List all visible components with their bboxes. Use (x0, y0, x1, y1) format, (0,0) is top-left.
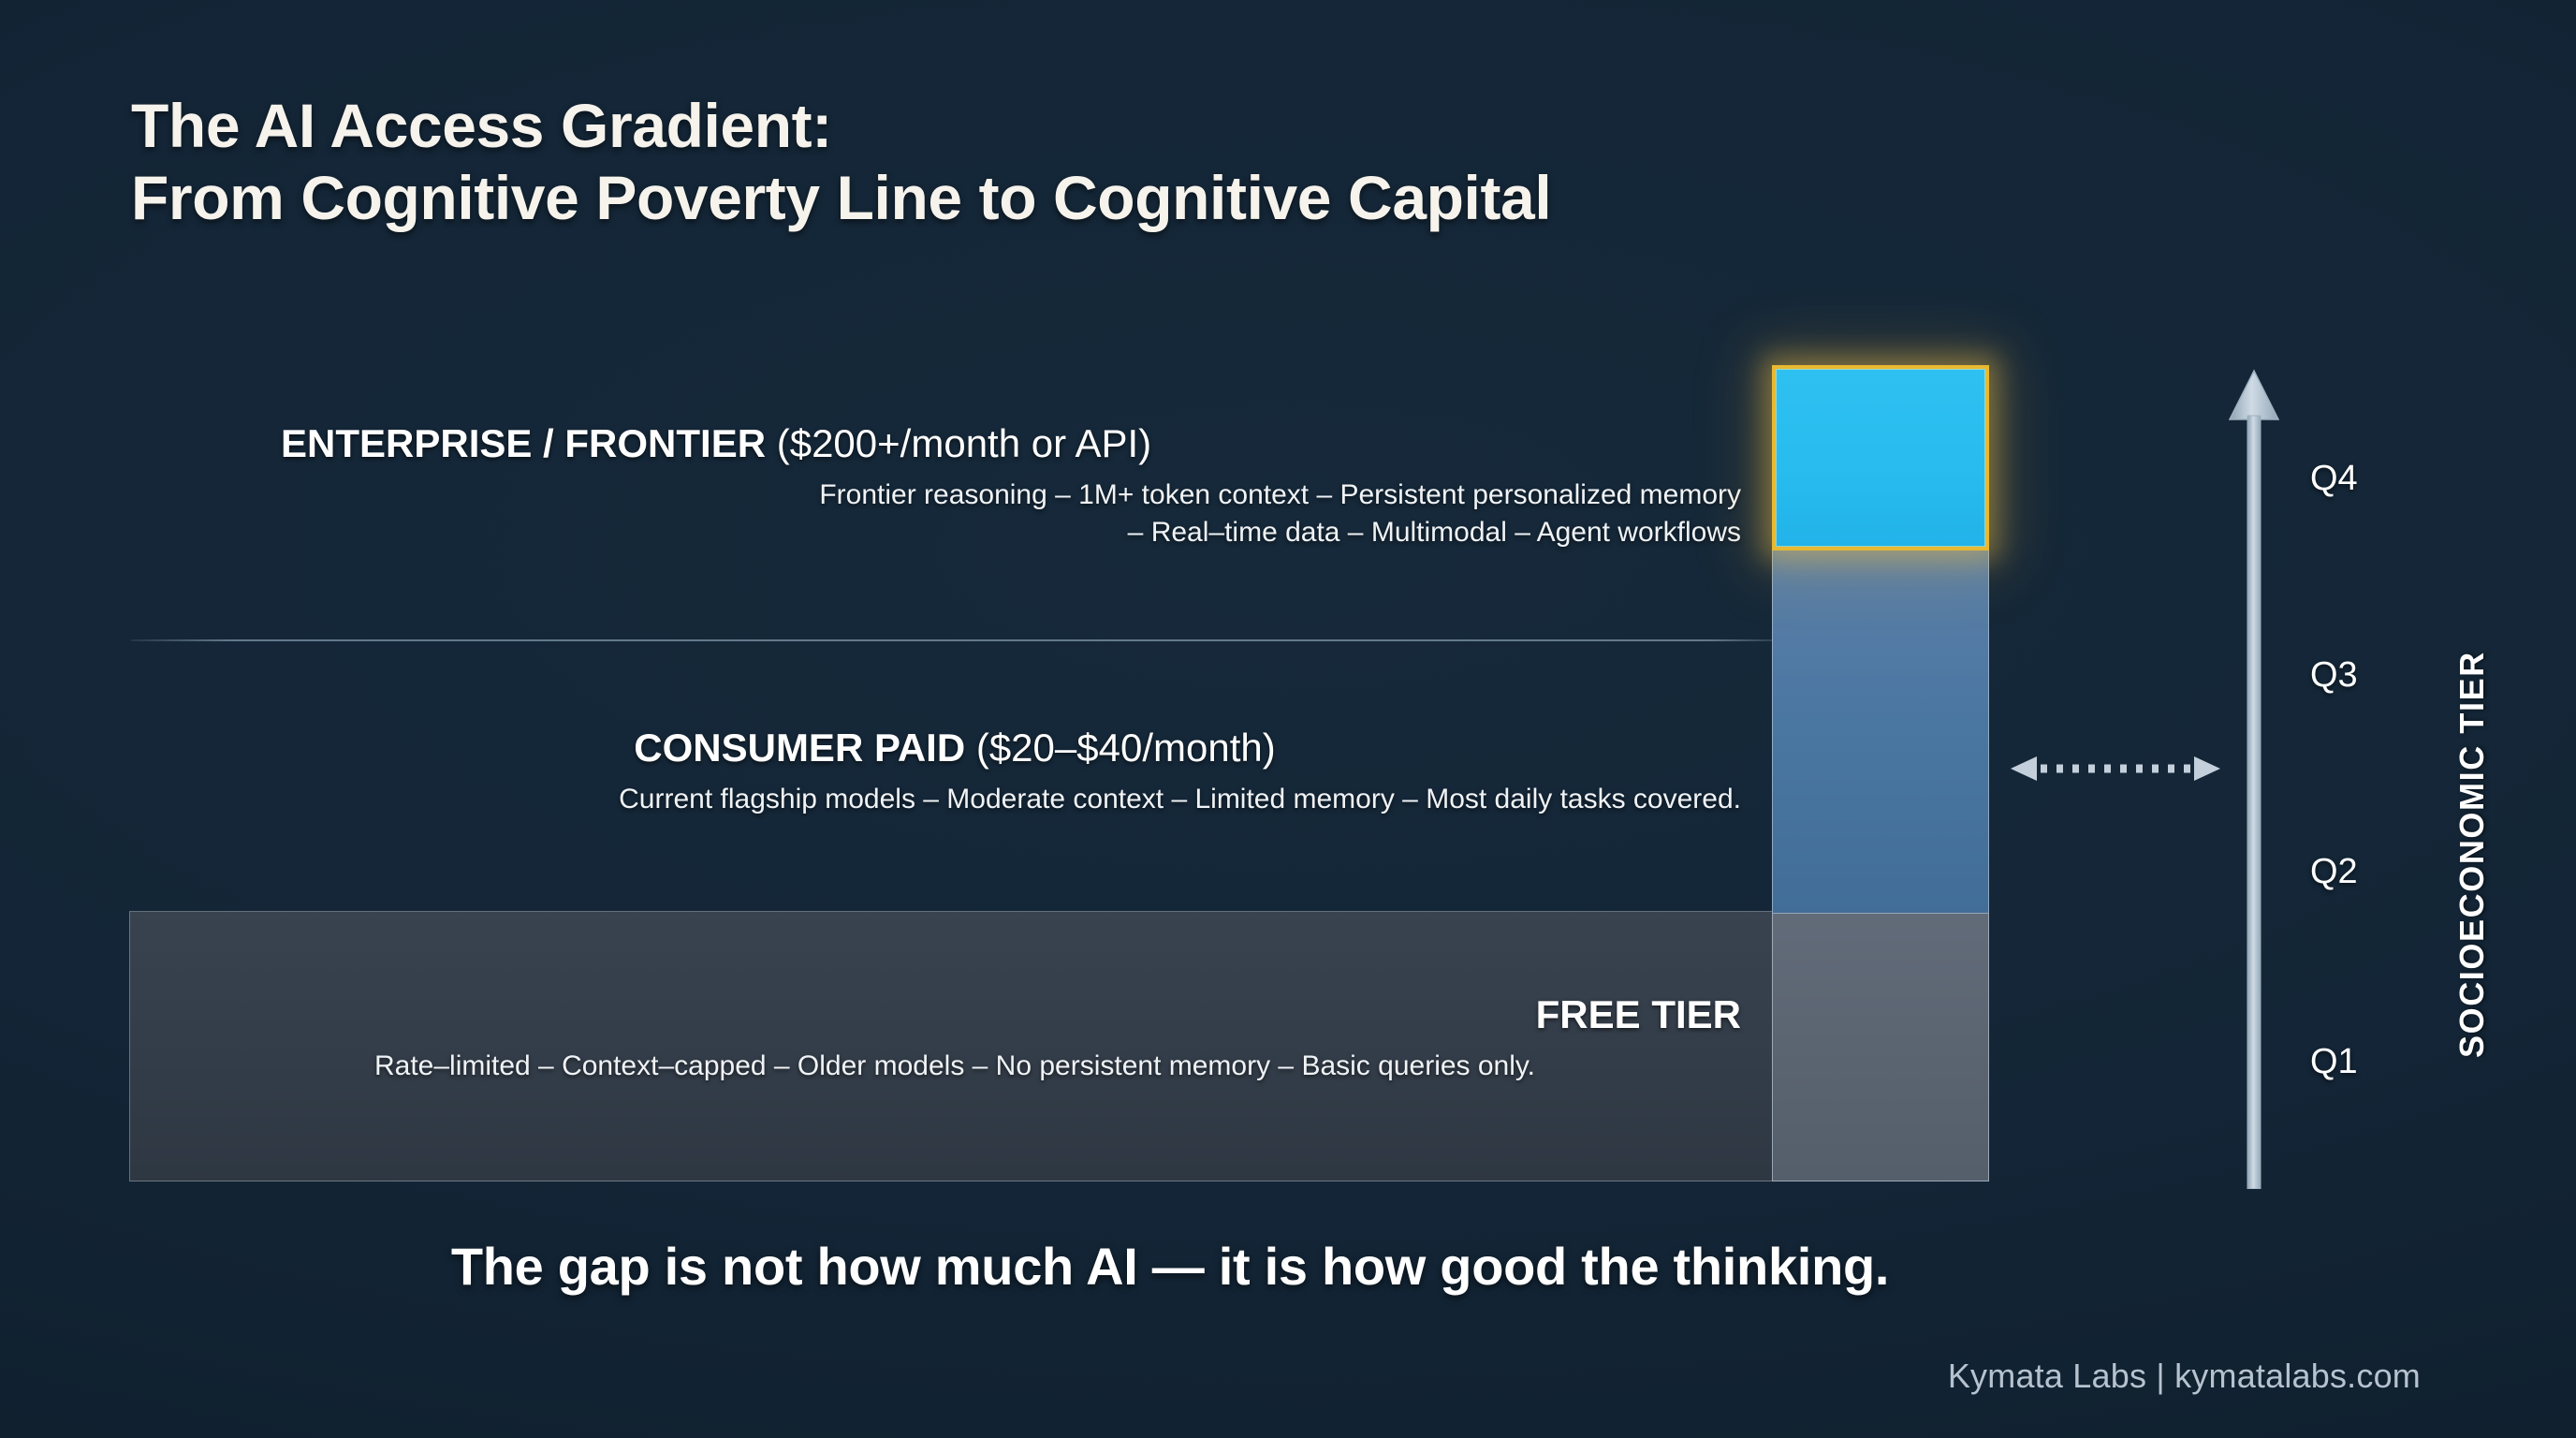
tier-heading-consumer: CONSUMER PAID ($20–$40/month) (168, 726, 1741, 770)
socioeconomic-axis-arrow (2224, 367, 2284, 1189)
tier-row-consumer: CONSUMER PAID ($20–$40/month) Current fl… (168, 726, 1741, 818)
tier-sub-consumer-line1: Current flagship models – Moderate conte… (168, 781, 1741, 818)
axis-tick-q2: Q2 (2310, 852, 2358, 892)
tier-sub-enterprise-line2: – Real–time data – Multimodal – Agent wo… (281, 514, 1741, 551)
footer-attribution: Kymata Labs | kymatalabs.com (1948, 1357, 2421, 1396)
tier-heading-enterprise: ENTERPRISE / FRONTIER ($200+/month or AP… (281, 421, 1741, 465)
axis-tick-q4: Q4 (2310, 459, 2358, 499)
gap-indicator-arrow (2011, 755, 2220, 783)
axis-tick-q1: Q1 (2310, 1042, 2358, 1082)
tier-row-enterprise: ENTERPRISE / FRONTIER ($200+/month or AP… (281, 421, 1741, 551)
tier-row-free: FREE TIER Rate–limited – Context–capped … (168, 992, 1741, 1085)
up-arrow-icon (2224, 367, 2284, 1189)
tier-divider (131, 639, 1774, 641)
axis-title: SOCIOECONOMIC TIER (2452, 496, 2492, 1058)
tier-heading-enterprise-price: ($200+/month or API) (766, 421, 1151, 465)
tier-sub-enterprise-line1: Frontier reasoning – 1M+ token context –… (281, 477, 1741, 514)
tier-sub-free-line1: Rate–limited – Context–capped – Older mo… (168, 1048, 1741, 1085)
double-arrow-icon (2011, 755, 2220, 783)
tier-heading-consumer-price: ($20–$40/month) (965, 726, 1276, 770)
tier-heading-consumer-main: CONSUMER PAID (634, 726, 965, 770)
bar-segment-free (1772, 913, 1989, 1181)
bar-segment-enterprise (1772, 365, 1989, 550)
page-title: The AI Access Gradient: From Cognitive P… (131, 90, 2237, 233)
infographic-canvas: The AI Access Gradient: From Cognitive P… (0, 0, 2576, 1438)
axis-tick-q3: Q3 (2310, 655, 2358, 696)
title-line-2: From Cognitive Poverty Line to Cognitive… (131, 162, 2237, 234)
tier-heading-free: FREE TIER (168, 992, 1741, 1036)
stacked-bar (1772, 365, 1989, 1181)
tagline: The gap is not how much AI — it is how g… (0, 1236, 2340, 1297)
tier-heading-enterprise-main: ENTERPRISE / FRONTIER (281, 421, 766, 465)
bar-segment-consumer (1772, 550, 1989, 913)
title-line-1: The AI Access Gradient: (131, 91, 832, 160)
